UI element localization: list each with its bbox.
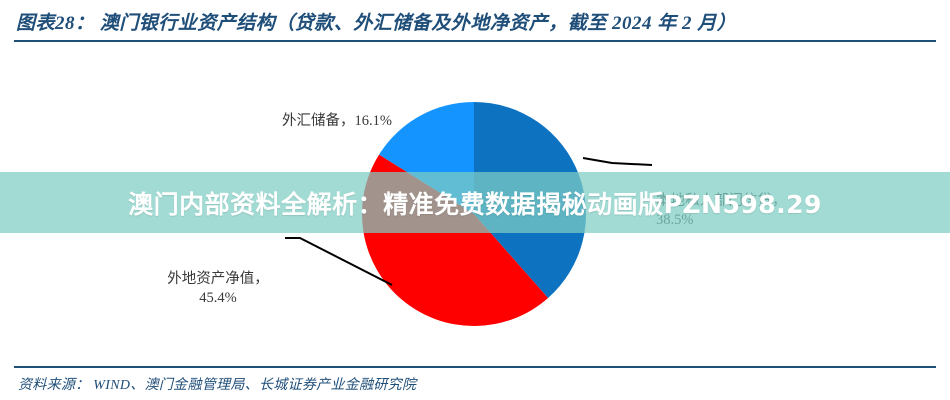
slice-label-private-credit: 本地私人部门信贷， 38.5% <box>656 192 787 230</box>
chart-page: 图表28： 澳门银行业资产结构（贷款、外汇储备及外地净资产，截至 2024 年 … <box>0 0 950 400</box>
slice-label-private-credit-line1: 本地私人部门信贷， <box>656 193 787 209</box>
pie-chart-svg <box>0 44 950 364</box>
slice-label-foreign-reserves: 外汇储备，16.1% <box>282 112 392 131</box>
pie-chart: 外汇储备，16.1% 本地私人部门信贷， 38.5% 外地资产净值， 45.4% <box>0 44 950 364</box>
leader-line-private-credit <box>583 158 652 165</box>
source-note: 资料来源： WIND、澳门金融管理局、长城证券产业金融研究院 <box>18 374 416 394</box>
slice-label-external-assets-line1: 外地资产净值， <box>167 271 269 287</box>
slice-label-external-assets-line2: 45.4% <box>148 289 288 308</box>
slice-label-private-credit-line2: 38.5% <box>656 211 787 230</box>
slice-label-external-assets: 外地资产净值， 45.4% <box>148 270 288 308</box>
header-divider <box>14 40 936 42</box>
page-title: 图表28： 澳门银行业资产结构（贷款、外汇储备及外地净资产，截至 2024 年 … <box>16 6 934 36</box>
footer-divider <box>14 366 936 368</box>
